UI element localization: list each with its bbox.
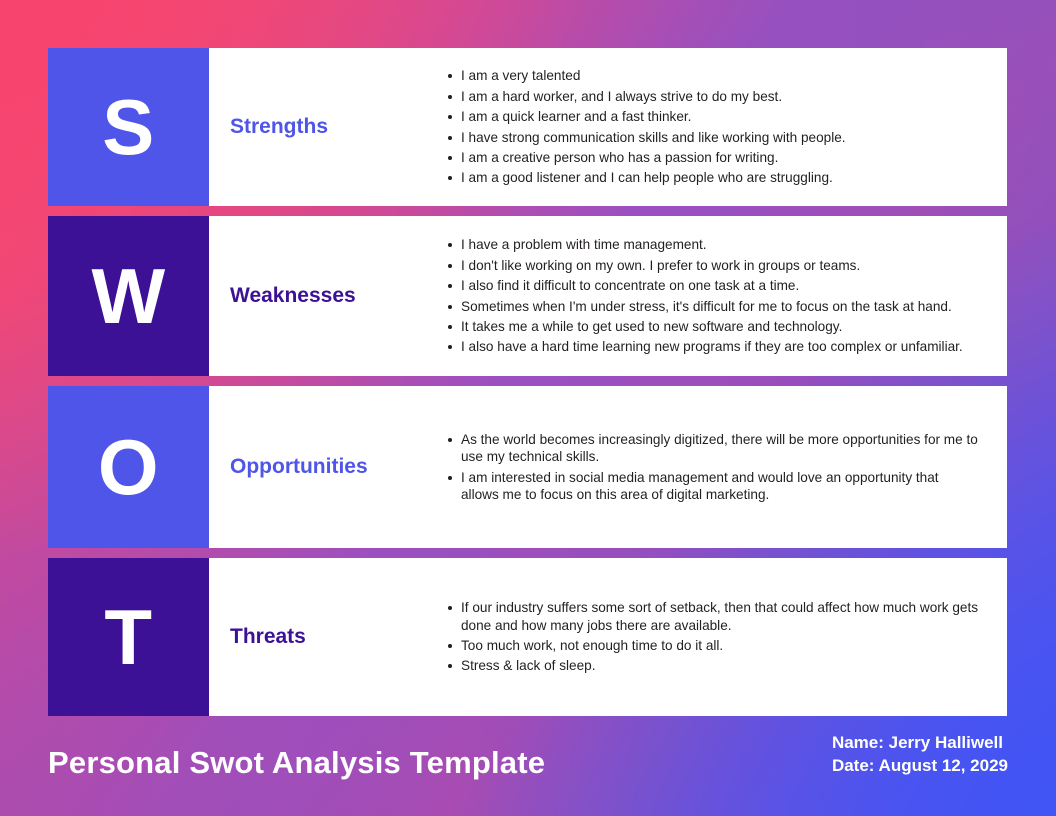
list-item: Too much work, not enough time to do it … [461, 637, 979, 654]
letter-glyph-w: W [91, 257, 165, 335]
section-title-threats: Threats [230, 625, 306, 648]
letter-block-strengths: S [48, 48, 209, 206]
list-item: I am a very talented [461, 67, 979, 84]
title-cell-weaknesses: Weaknesses [209, 216, 441, 376]
swot-cards: S Strengths I am a very talented I am a … [48, 48, 1007, 716]
list-item: I am interested in social media manageme… [461, 469, 979, 504]
letter-glyph-s: S [102, 88, 155, 166]
swot-row-opportunities: O Opportunities As the world becomes inc… [48, 386, 1007, 548]
meta-name: Name: Jerry Halliwell [832, 732, 1008, 755]
swot-row-threats: T Threats If our industry suffers some s… [48, 558, 1007, 716]
section-title-strengths: Strengths [230, 115, 328, 138]
list-item: It takes me a while to get used to new s… [461, 318, 979, 335]
list-item: Stress & lack of sleep. [461, 657, 979, 674]
list-item: I am a quick learner and a fast thinker. [461, 108, 979, 125]
list-item: I have strong communication skills and l… [461, 129, 979, 146]
poster-title: Personal Swot Analysis Template [48, 746, 545, 780]
bullet-list-weaknesses: I have a problem with time management. I… [441, 236, 979, 355]
section-title-weaknesses: Weaknesses [230, 284, 356, 307]
list-item: Sometimes when I'm under stress, it's di… [461, 298, 979, 315]
meta-date: Date: August 12, 2029 [832, 755, 1008, 778]
body-cell-strengths: I am a very talented I am a hard worker,… [441, 48, 1007, 206]
poster-footer: Personal Swot Analysis Template Name: Je… [48, 732, 1008, 780]
letter-glyph-t: T [104, 598, 152, 676]
letter-block-threats: T [48, 558, 209, 716]
bullet-list-threats: If our industry suffers some sort of set… [441, 599, 979, 675]
list-item: I am a creative person who has a passion… [461, 149, 979, 166]
bullet-list-opportunities: As the world becomes increasingly digiti… [441, 431, 979, 504]
title-cell-opportunities: Opportunities [209, 386, 441, 548]
list-item: I am a hard worker, and I always strive … [461, 88, 979, 105]
bullet-list-strengths: I am a very talented I am a hard worker,… [441, 67, 979, 186]
swot-row-strengths: S Strengths I am a very talented I am a … [48, 48, 1007, 206]
list-item: I have a problem with time management. [461, 236, 979, 253]
title-cell-strengths: Strengths [209, 48, 441, 206]
swot-poster: S Strengths I am a very talented I am a … [0, 0, 1056, 816]
list-item: I also have a hard time learning new pro… [461, 338, 979, 355]
letter-glyph-o: O [98, 428, 159, 506]
title-cell-threats: Threats [209, 558, 441, 716]
body-cell-weaknesses: I have a problem with time management. I… [441, 216, 1007, 376]
poster-meta: Name: Jerry Halliwell Date: August 12, 2… [832, 732, 1008, 780]
list-item: If our industry suffers some sort of set… [461, 599, 979, 634]
list-item: I also find it difficult to concentrate … [461, 277, 979, 294]
body-cell-opportunities: As the world becomes increasingly digiti… [441, 386, 1007, 548]
letter-block-weaknesses: W [48, 216, 209, 376]
list-item: As the world becomes increasingly digiti… [461, 431, 979, 466]
list-item: I don't like working on my own. I prefer… [461, 257, 979, 274]
body-cell-threats: If our industry suffers some sort of set… [441, 558, 1007, 716]
list-item: I am a good listener and I can help peop… [461, 169, 979, 186]
swot-row-weaknesses: W Weaknesses I have a problem with time … [48, 216, 1007, 376]
letter-block-opportunities: O [48, 386, 209, 548]
section-title-opportunities: Opportunities [230, 455, 368, 478]
